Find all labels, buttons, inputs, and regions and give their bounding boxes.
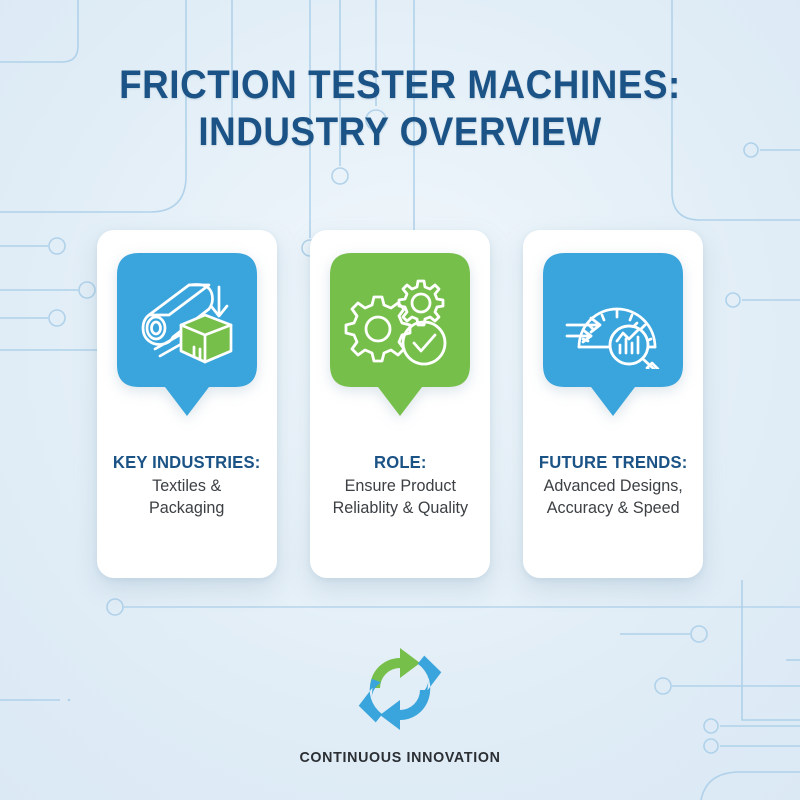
card-heading: FUTURE TRENDS: bbox=[539, 451, 688, 473]
page-title-line-1: FRICTION TESTER MACHINES: bbox=[32, 62, 768, 109]
card-future-trends[interactable]: FUTURE TRENDS: Advanced Designs, Accurac… bbox=[523, 230, 703, 578]
footer-block: CONTINUOUS INNOVATION bbox=[0, 640, 800, 766]
card-heading: KEY INDUSTRIES: bbox=[113, 451, 261, 473]
badge-role bbox=[330, 253, 470, 421]
badge-key-industries bbox=[117, 253, 257, 421]
footer-label: CONTINUOUS INNOVATION bbox=[20, 749, 780, 766]
speedometer-and-magnifier-icon bbox=[557, 273, 669, 369]
card-body: Advanced Designs, Accuracy & Speed bbox=[539, 475, 688, 519]
card-text-block: ROLE: Ensure Product Reliablity & Qualit… bbox=[321, 451, 480, 519]
card-text-block: KEY INDUSTRIES: Textiles & Packaging bbox=[101, 451, 272, 519]
page-title-line-2: INDUSTRY OVERVIEW bbox=[32, 109, 768, 156]
card-text-block: FUTURE TRENDS: Advanced Designs, Accurac… bbox=[527, 451, 699, 519]
card-body: Textiles & Packaging bbox=[113, 475, 261, 519]
card-role[interactable]: ROLE: Ensure Product Reliablity & Qualit… bbox=[310, 230, 490, 578]
infographic-poster: FRICTION TESTER MACHINES: INDUSTRY OVERV… bbox=[0, 0, 800, 800]
card-row: KEY INDUSTRIES: Textiles & Packaging bbox=[0, 230, 800, 578]
badge-future-trends bbox=[543, 253, 683, 421]
card-heading: ROLE: bbox=[332, 451, 468, 473]
card-key-industries[interactable]: KEY INDUSTRIES: Textiles & Packaging bbox=[97, 230, 277, 578]
circular-arrows-loop-icon bbox=[344, 640, 456, 738]
page-title: FRICTION TESTER MACHINES: INDUSTRY OVERV… bbox=[0, 62, 800, 156]
card-body: Ensure Product Reliablity & Quality bbox=[332, 475, 468, 519]
fabric-roll-and-package-icon bbox=[131, 273, 243, 369]
gears-and-checkmark-icon bbox=[344, 273, 456, 369]
